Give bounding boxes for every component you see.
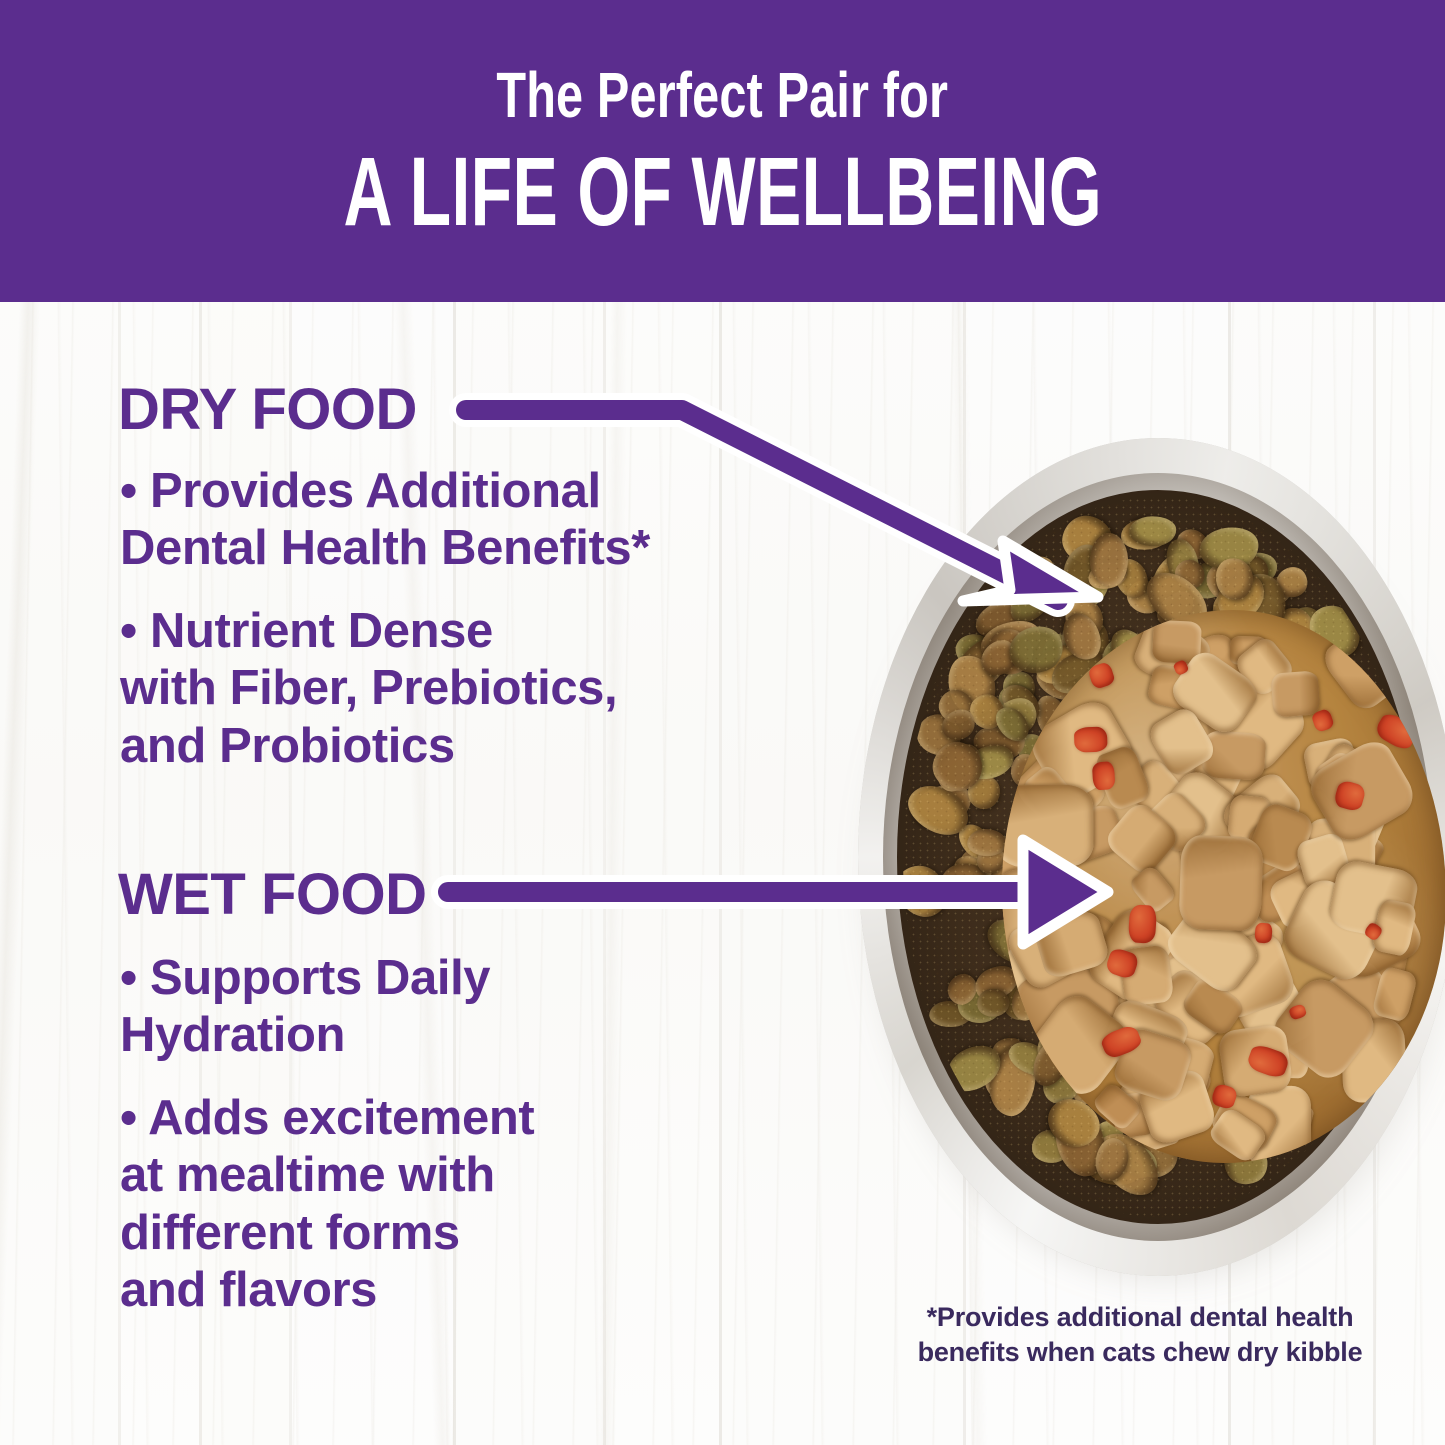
tomato-bit [1128, 905, 1157, 945]
dry-food-heading: DRY FOOD [118, 381, 417, 439]
wet-food-bullet-1: • Supports Daily Hydration [120, 950, 490, 1065]
wet-food-chunk [1270, 670, 1320, 717]
tomato-bit [1254, 922, 1272, 944]
wet-food-heading: WET FOOD [118, 866, 427, 924]
wet-food-chunk [1179, 834, 1264, 931]
wet-food-center [1002, 610, 1445, 1163]
tomato-bit [1074, 726, 1108, 752]
dry-food-bullet-1: • Provides Additional Dental Health Bene… [120, 463, 650, 578]
header-subtitle: The Perfect Pair for [497, 63, 949, 127]
wet-food-bullet-2: • Adds excitement at mealtime with diffe… [120, 1090, 534, 1319]
infographic-page: The Perfect Pair for A LIFE OF WELLBEING… [0, 0, 1445, 1445]
wet-food-chunk [1002, 784, 1093, 867]
header-title: A LIFE OF WELLBEING [343, 143, 1102, 240]
tomato-bit [1093, 762, 1116, 791]
pet-food-bowl-photo [858, 438, 1445, 1276]
dental-health-footnote: *Provides additional dental health benef… [900, 1300, 1380, 1369]
header-band: The Perfect Pair for A LIFE OF WELLBEING [0, 0, 1445, 302]
dry-food-bullet-2: • Nutrient Dense with Fiber, Prebiotics,… [120, 603, 617, 775]
